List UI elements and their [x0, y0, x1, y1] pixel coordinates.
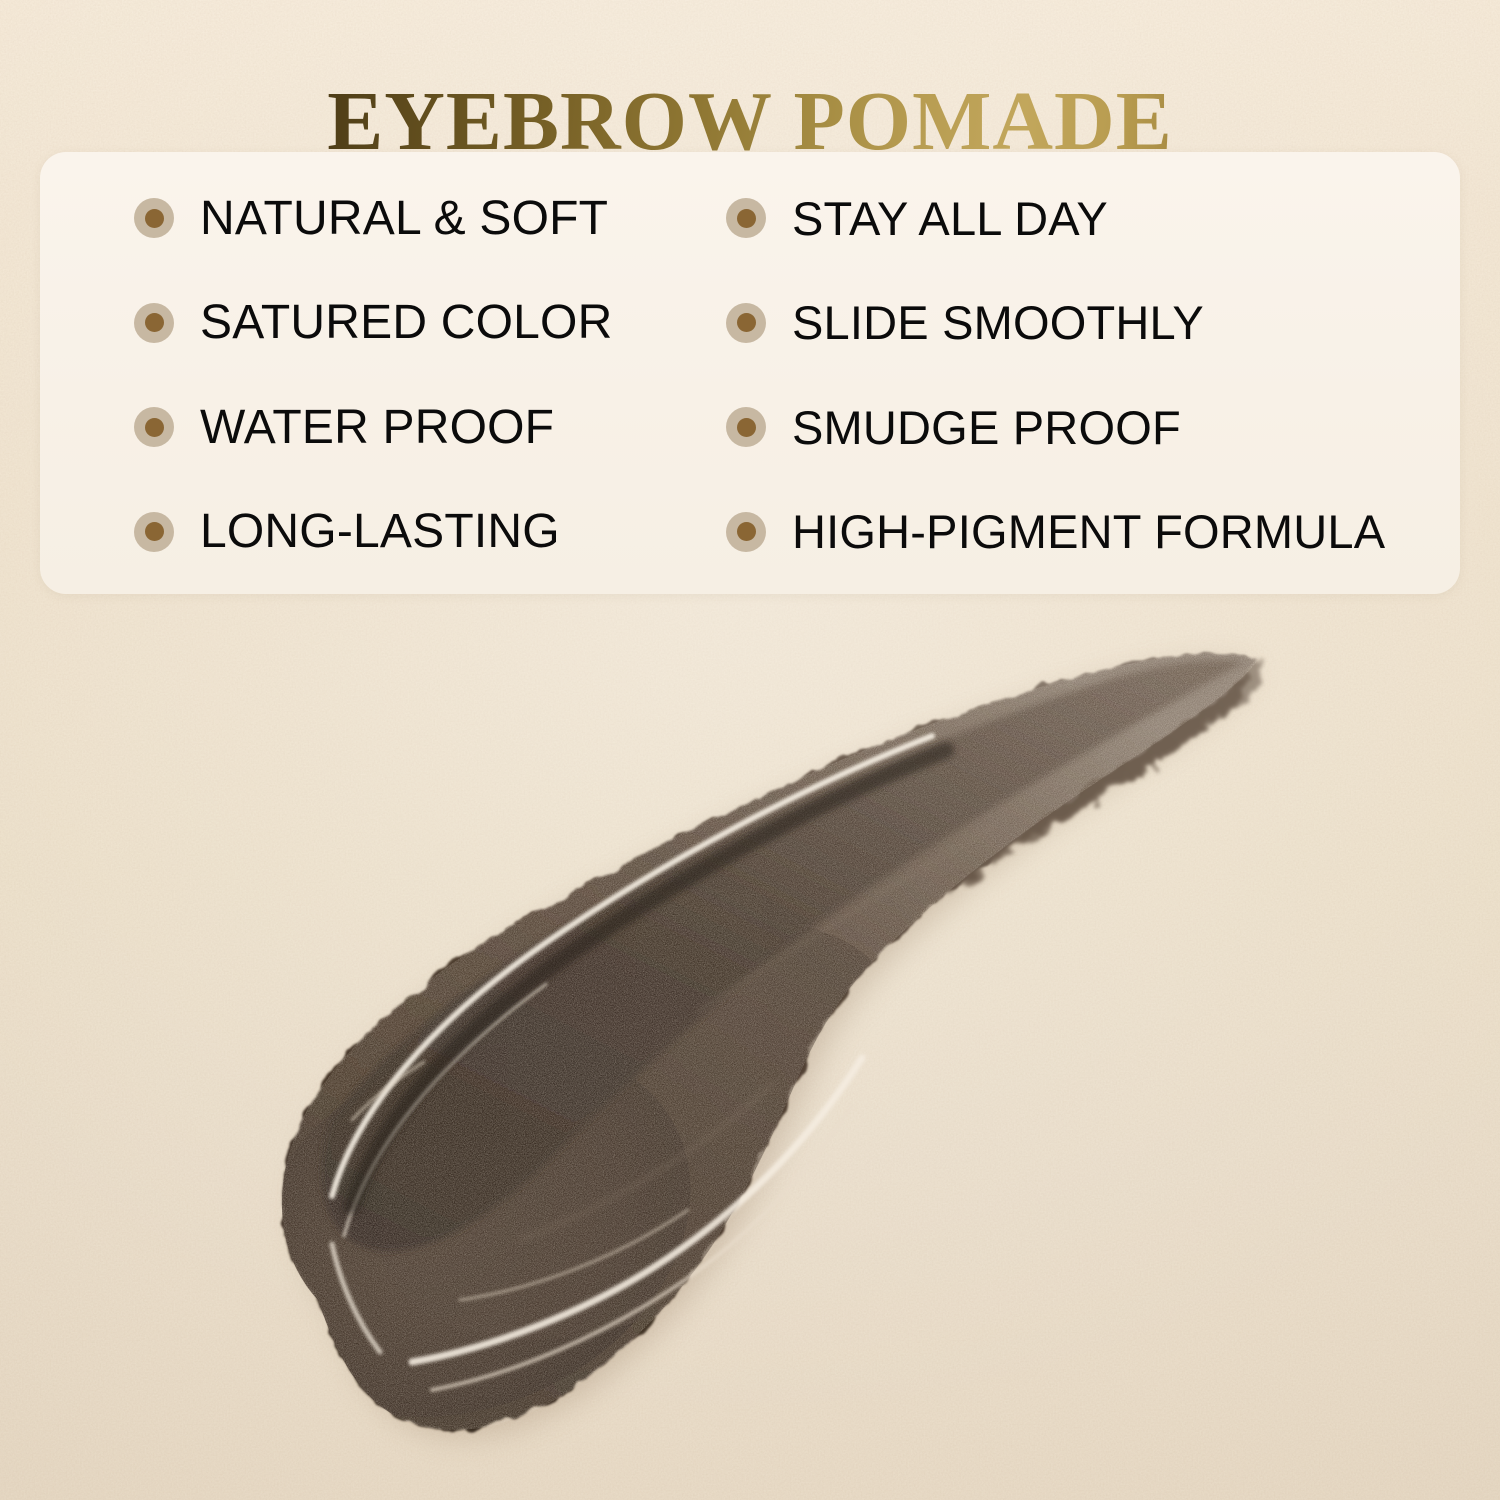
feature-label: WATER PROOF	[200, 400, 554, 455]
page-title-container: EYEBROW POMADE	[0, 24, 1500, 221]
swatch-body	[187, 620, 1310, 1500]
bullet-icon	[134, 407, 174, 447]
bullet-icon	[726, 407, 766, 447]
bullet-icon	[134, 303, 174, 343]
feature-item-smudge-proof: SMUDGE PROOF	[648, 400, 1460, 455]
page-title: EYEBROW POMADE	[327, 80, 1173, 164]
feature-label: SMUDGE PROOF	[792, 400, 1181, 455]
feature-label: SATURED COLOR	[200, 295, 612, 350]
feature-label: LONG-LASTING	[200, 504, 560, 559]
feature-item-water-proof: WATER PROOF	[40, 400, 648, 455]
product-listing-image: EYEBROW POMADE NATURAL & SOFT SATURED CO…	[0, 0, 1500, 1500]
feature-item-satured-color: SATURED COLOR	[40, 295, 648, 350]
bullet-icon	[134, 512, 174, 552]
feature-item-slide-smoothly: SLIDE SMOOTHLY	[648, 295, 1460, 350]
bullet-icon	[726, 303, 766, 343]
bullet-icon	[726, 512, 766, 552]
feature-item-long-lasting: LONG-LASTING	[40, 504, 648, 559]
feature-label: HIGH-PIGMENT FORMULA	[792, 504, 1385, 559]
feature-label: SLIDE SMOOTHLY	[792, 295, 1204, 350]
feature-item-high-pigment-formula: HIGH-PIGMENT FORMULA	[648, 504, 1460, 559]
